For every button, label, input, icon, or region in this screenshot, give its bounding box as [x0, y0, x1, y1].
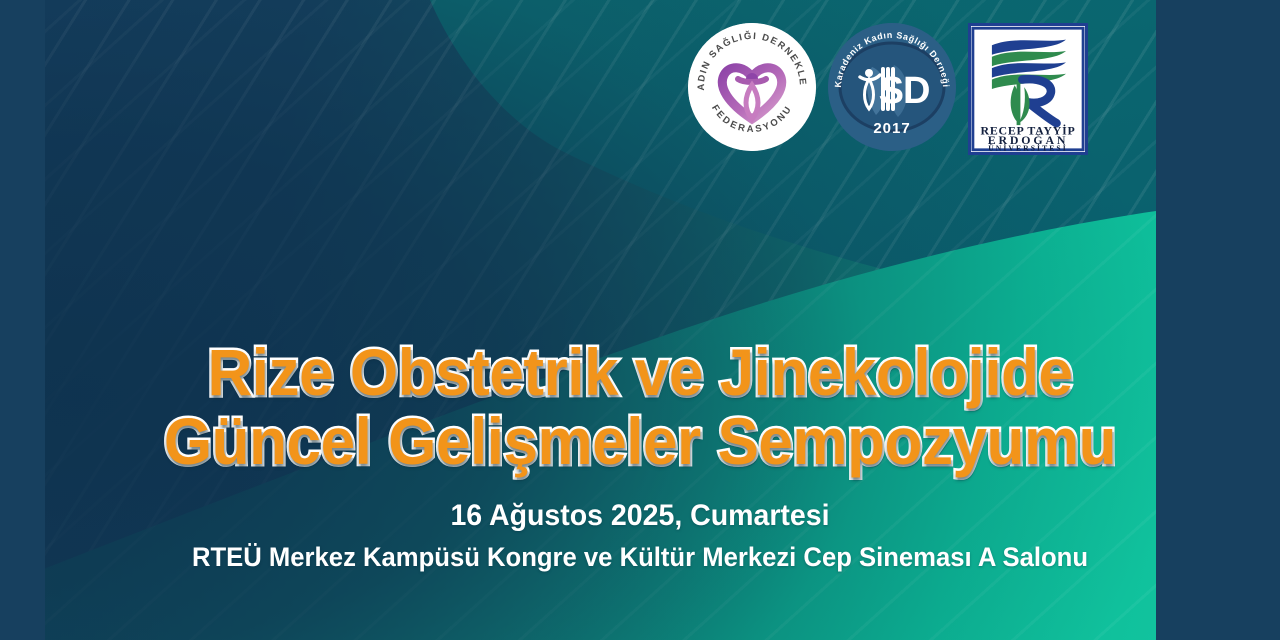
- title-line-1: Rize Obstetrik ve Jinekolojide: [38, 340, 1241, 405]
- ksdf-logo-icon: KADIN SAĞLIĞI DERNEKLERİ FEDERASYONU: [688, 23, 816, 151]
- event-date: 16 Ağustos 2025, Cumartesi: [32, 499, 1248, 533]
- banner-text-block: Rize Obstetrik ve Jinekolojide Güncel Ge…: [0, 340, 1280, 573]
- event-venue: RTEÜ Merkez Kampüsü Kongre ve Kültür Mer…: [32, 542, 1248, 573]
- title-line-2: Güncel Gelişmeler Sempozyumu: [38, 409, 1241, 474]
- page-title: Rize Obstetrik ve Jinekolojide Güncel Ge…: [38, 340, 1241, 473]
- kksd-logo-icon: Karadeniz Kadın Sağlığı Derneği SD 2017: [828, 23, 956, 151]
- logo-karadeniz-kadin-sagligi-dernegi: Karadeniz Kadın Sağlığı Derneği SD 2017: [828, 23, 956, 151]
- svg-text:2017: 2017: [873, 120, 910, 137]
- logo-kadin-sagligi-dernekleri-federasyonu: KADIN SAĞLIĞI DERNEKLERİ FEDERASYONU: [688, 23, 816, 151]
- logo-row: KADIN SAĞLIĞI DERNEKLERİ FEDERASYONU: [688, 23, 1088, 155]
- rteu-logo-icon: RECEP TAYYİP ERDOĞAN ÜNİVERSİTESİ: [968, 23, 1088, 155]
- rteu-line-3: ÜNİVERSİTESİ: [988, 143, 1068, 153]
- logo-recep-tayyip-erdogan-universitesi: RECEP TAYYİP ERDOĞAN ÜNİVERSİTESİ: [968, 23, 1088, 155]
- symposium-banner: KADIN SAĞLIĞI DERNEKLERİ FEDERASYONU: [0, 0, 1280, 640]
